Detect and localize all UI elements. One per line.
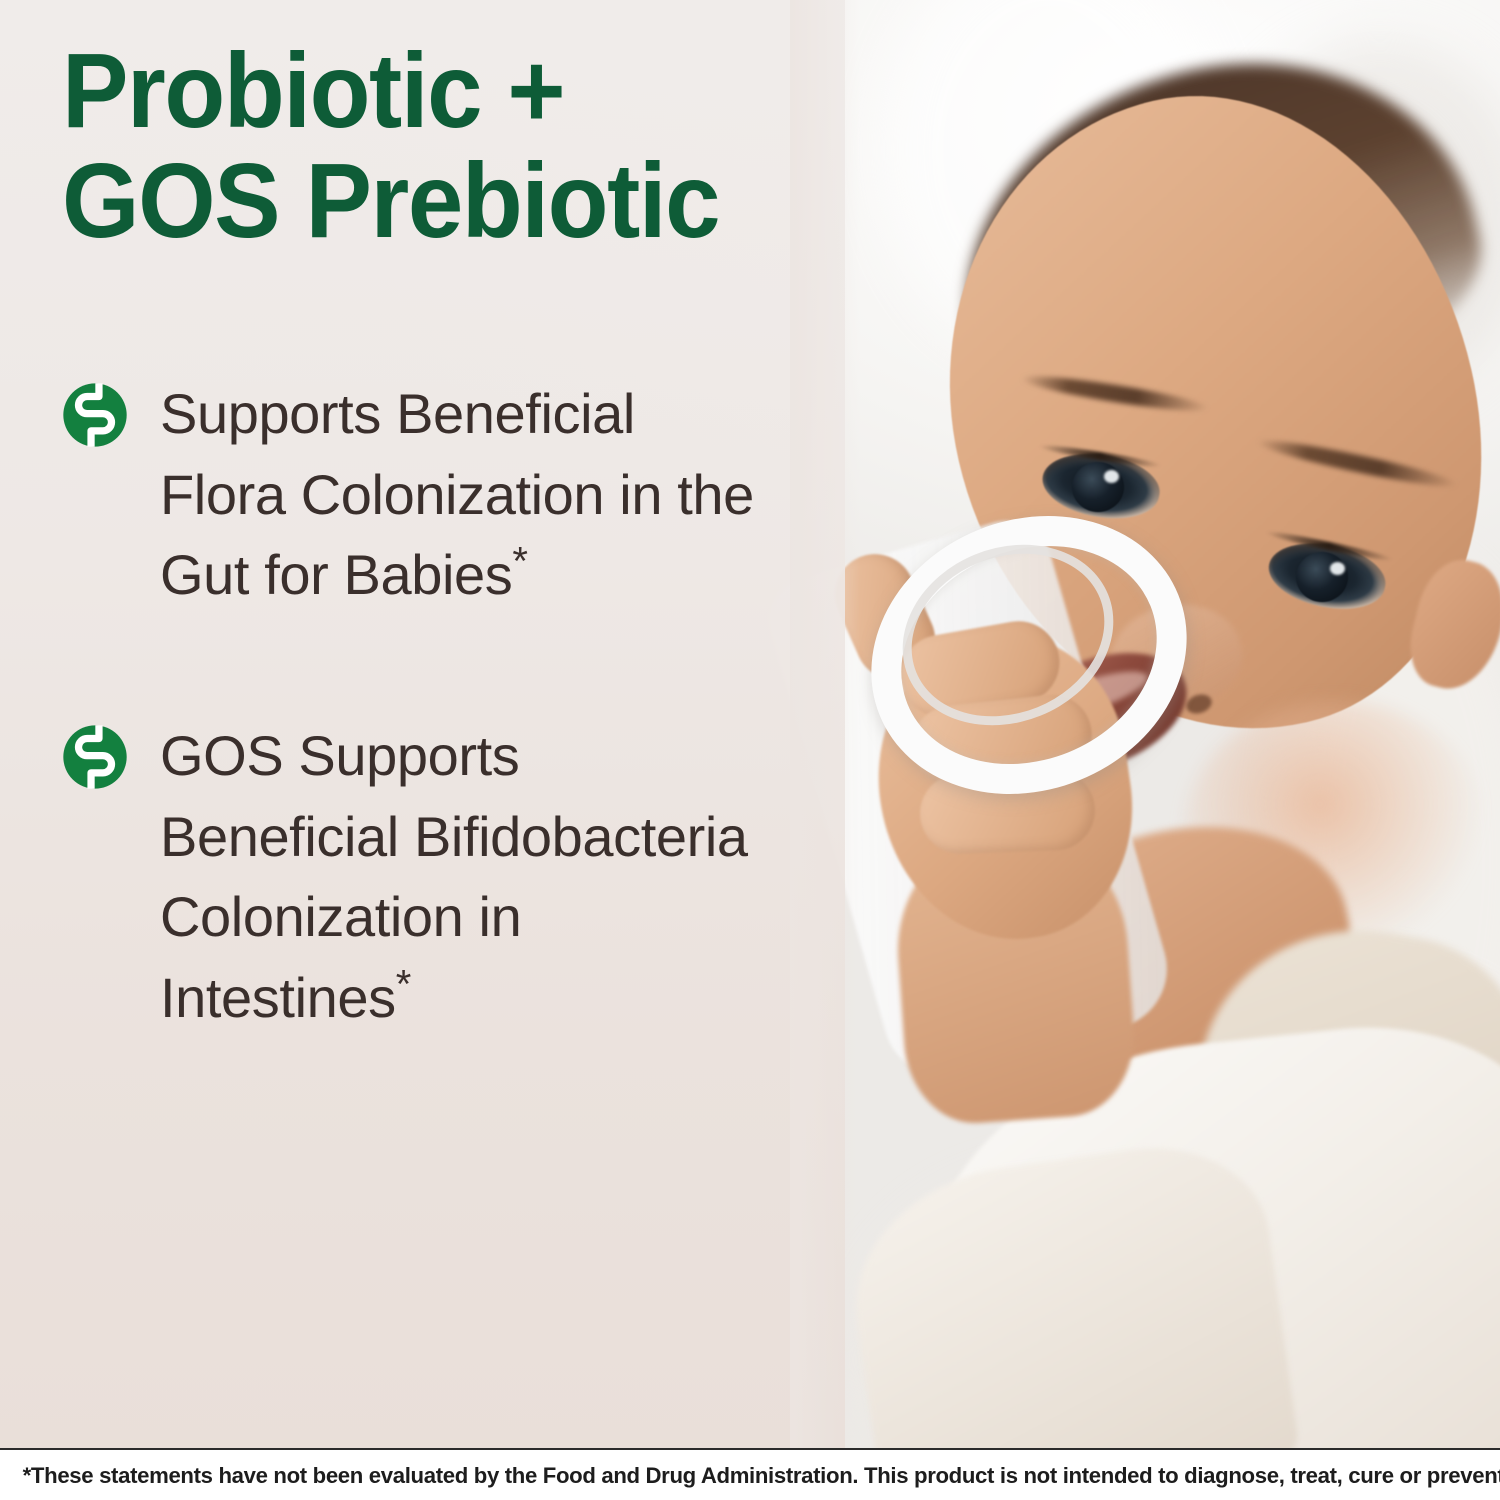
- list-item-label: Supports Beneficial Flora Colonization i…: [160, 374, 760, 616]
- text-content-panel: Probiotic + GOS Prebiotic Supports Benef…: [0, 0, 845, 1448]
- baby-pupil: [1072, 462, 1124, 512]
- list-item: GOS Supports Beneficial Bifidobacteria C…: [62, 716, 832, 1039]
- baby-pupil: [1296, 552, 1348, 602]
- product-infographic: Probiotic + GOS Prebiotic Supports Benef…: [0, 0, 1500, 1500]
- disclaimer-bar: *These statements have not been evaluate…: [0, 1448, 1500, 1500]
- eye-highlight: [1330, 562, 1345, 575]
- gut-icon: [62, 724, 128, 790]
- list-item: Supports Beneficial Flora Colonization i…: [62, 374, 832, 616]
- list-item-label: GOS Supports Beneficial Bifidobacteria C…: [160, 716, 760, 1039]
- gut-icon: [62, 382, 128, 448]
- eye-highlight: [1104, 470, 1119, 483]
- page-title: Probiotic + GOS Prebiotic: [62, 36, 776, 256]
- fda-disclaimer-text: *These statements have not been evaluate…: [0, 1463, 1500, 1489]
- benefit-list: Supports Beneficial Flora Colonization i…: [62, 374, 832, 1138]
